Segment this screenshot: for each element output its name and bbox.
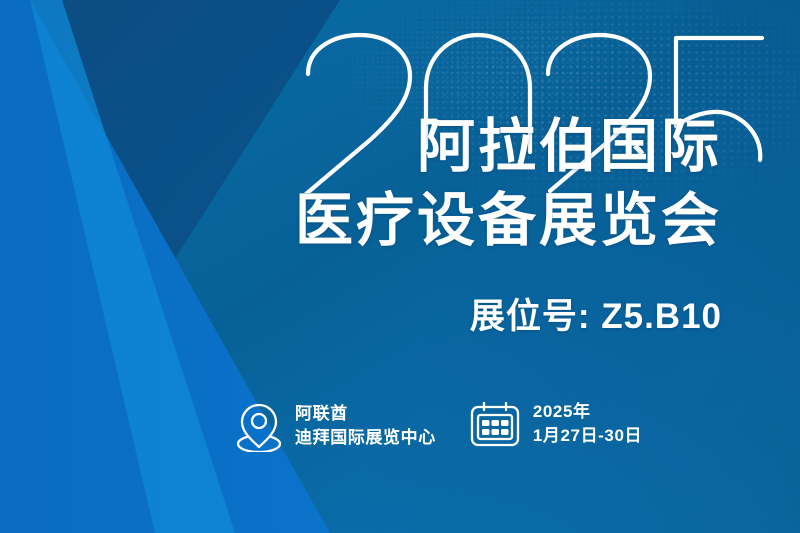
event-poster: 阿拉伯国际 医疗设备展览会 展位号: Z5.B10 阿联酋 迪拜国际展览中心 <box>0 0 800 533</box>
calendar-icon <box>470 400 520 448</box>
date-info: 2025年 1月27日-30日 <box>470 400 642 448</box>
date-line-1: 2025年 <box>533 400 642 424</box>
date-line-2: 1月27日-30日 <box>533 424 642 448</box>
poster-title: 阿拉伯国际 医疗设备展览会 <box>295 118 722 250</box>
info-bar: 阿联酋 迪拜国际展览中心 2025年 1月27日-30日 <box>236 400 642 452</box>
venue-line-2: 迪拜国际展览中心 <box>295 426 436 450</box>
title-line-2: 医疗设备展览会 <box>295 192 722 250</box>
venue-text: 阿联酋 迪拜国际展览中心 <box>295 402 436 450</box>
title-line-1: 阿拉伯国际 <box>295 118 722 176</box>
venue-info: 阿联酋 迪拜国际展览中心 <box>236 400 436 452</box>
date-text: 2025年 1月27日-30日 <box>533 400 642 448</box>
venue-line-1: 阿联酋 <box>295 402 436 426</box>
booth-number: 展位号: Z5.B10 <box>470 288 722 339</box>
location-pin-icon <box>236 400 282 452</box>
